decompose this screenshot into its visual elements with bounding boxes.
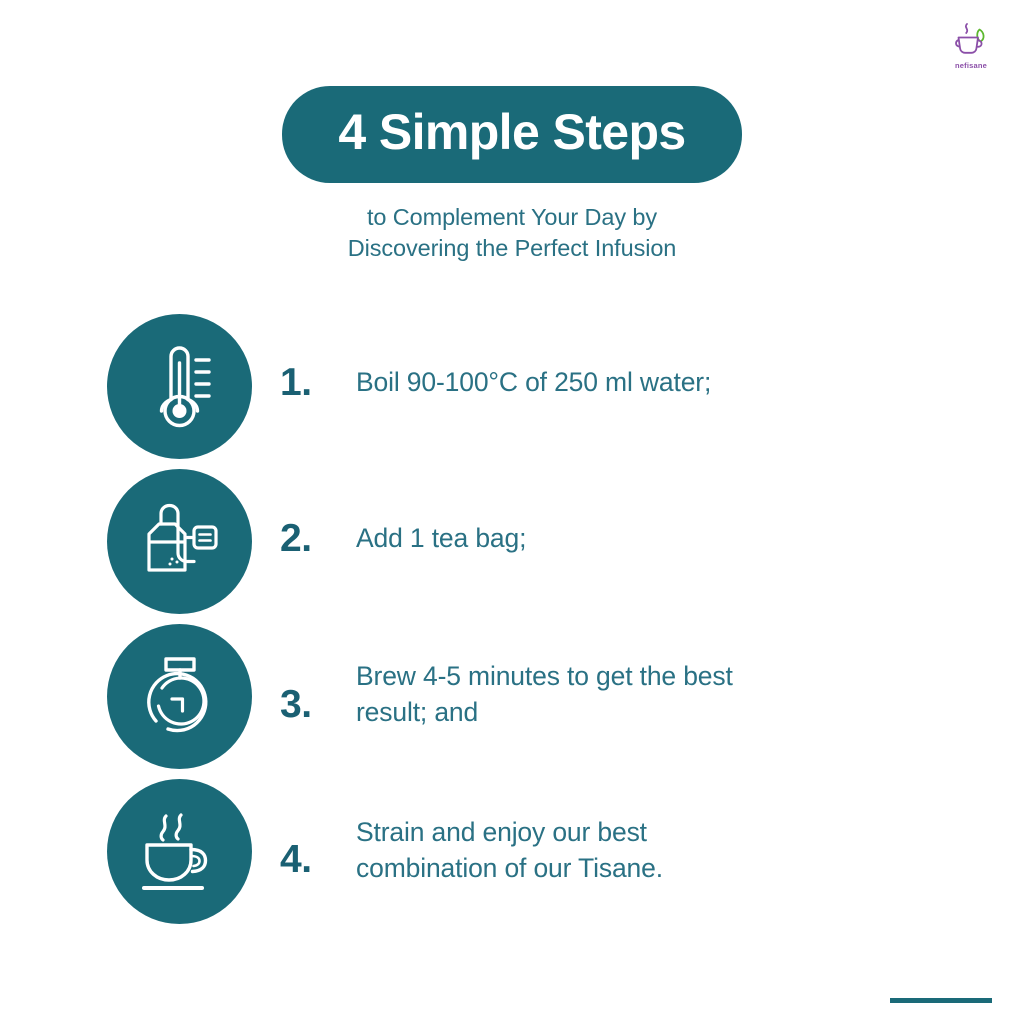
step-4-text: Strain and enjoy our best combination of… <box>356 815 936 886</box>
step-4-number: 4. <box>280 840 346 879</box>
step-2-number: 2. <box>280 519 346 558</box>
thermometer-icon <box>141 343 219 431</box>
infographic-page: { "brand": { "name": "nefisane", "logo_i… <box>0 0 1024 1024</box>
step-1-number: 1. <box>280 363 346 402</box>
step-1-text: Boil 90-100°C of 250 ml water; <box>356 365 936 401</box>
step-1-text-line-1: Boil 90-100°C of 250 ml water; <box>356 365 936 401</box>
step-1-icon-circle <box>107 314 252 459</box>
steps-list: 1. Boil 90-100°C of 250 ml water; 2. Add… <box>0 0 1024 1024</box>
step-2-text-line-1: Add 1 tea bag; <box>356 521 936 557</box>
step-2-text: Add 1 tea bag; <box>356 521 936 557</box>
step-3-icon-circle <box>107 624 252 769</box>
bottom-accent-rule <box>890 998 992 1003</box>
step-2-icon-circle <box>107 469 252 614</box>
steaming-cup-icon <box>136 809 224 895</box>
step-3-text-line-2: result; and <box>356 695 936 731</box>
step-3-number: 3. <box>280 685 346 724</box>
step-4-icon-circle <box>107 779 252 924</box>
step-3-text-line-1: Brew 4-5 minutes to get the best <box>356 659 936 695</box>
step-3-text: Brew 4-5 minutes to get the best result;… <box>356 659 936 730</box>
step-4-text-line-2: combination of our Tisane. <box>356 851 936 887</box>
step-4-text-line-1: Strain and enjoy our best <box>356 815 936 851</box>
stopwatch-icon <box>137 653 223 741</box>
tea-bag-icon <box>137 501 223 583</box>
